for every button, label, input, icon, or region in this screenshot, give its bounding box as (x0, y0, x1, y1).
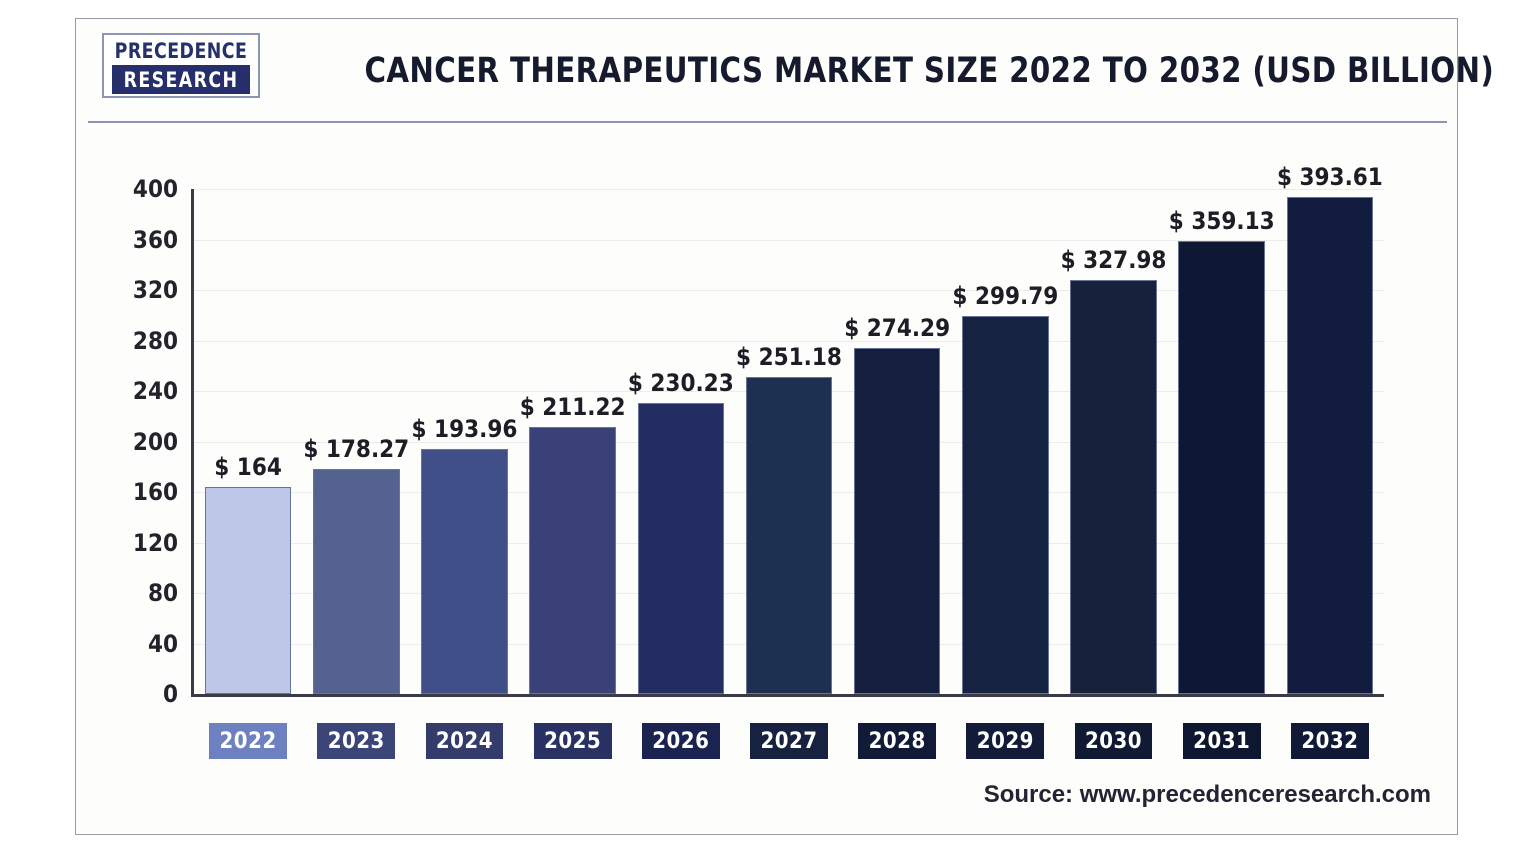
y-axis-tick-label: 80 (148, 579, 178, 607)
bar-2028[interactable]: $ 274.29 (854, 348, 941, 694)
gridline (194, 189, 1384, 190)
bar-value-label: $ 393.61 (1277, 163, 1383, 191)
source-attribution: Source: www.precedenceresearch.com (984, 781, 1431, 809)
y-axis-tick-label: 240 (133, 377, 178, 405)
legend-item-2024[interactable]: 2024 (426, 723, 504, 759)
bar-value-label: $ 299.79 (952, 282, 1058, 310)
bar-2024[interactable]: $ 193.96 (421, 449, 508, 694)
legend-item-2025[interactable]: 2025 (534, 723, 612, 759)
legend-item-2032[interactable]: 2032 (1291, 723, 1369, 759)
bar-2032[interactable]: $ 393.61 (1287, 197, 1374, 694)
chart-card: PRECEDENCE RESEARCH CANCER THERAPEUTICS … (75, 18, 1458, 835)
y-axis-tick-label: 320 (133, 276, 178, 304)
bar-2023[interactable]: $ 178.27 (313, 469, 400, 694)
bar-2026[interactable]: $ 230.23 (638, 403, 725, 694)
y-axis-tick-label: 0 (163, 680, 178, 708)
logo-text-research: RESEARCH (112, 65, 250, 94)
y-axis-tick-label: 400 (133, 175, 178, 203)
card-header: PRECEDENCE RESEARCH CANCER THERAPEUTICS … (76, 19, 1457, 121)
legend-item-2026[interactable]: 2026 (642, 723, 720, 759)
y-axis-tick-label: 280 (133, 327, 178, 355)
plot-wrapper: 04080120160200240280320360400$ 164$ 178.… (76, 123, 1457, 834)
bar-value-label: $ 274.29 (844, 314, 950, 342)
bar-value-label: $ 193.96 (412, 415, 518, 443)
bar-value-label: $ 211.22 (520, 393, 626, 421)
year-legend: 2022202320242025202620272028202920302031… (194, 723, 1384, 763)
y-axis-tick-label: 200 (133, 428, 178, 456)
page-title: CANCER THERAPEUTICS MARKET SIZE 2022 TO … (365, 51, 1388, 91)
x-axis-line (191, 694, 1384, 697)
legend-item-2028[interactable]: 2028 (858, 723, 936, 759)
bar-2022[interactable]: $ 164 (205, 487, 292, 694)
logo-text-precedence: PRECEDENCE (112, 37, 250, 65)
bar-2025[interactable]: $ 211.22 (529, 427, 616, 694)
bar-2029[interactable]: $ 299.79 (962, 316, 1049, 694)
y-axis-tick-label: 160 (133, 478, 178, 506)
bar-value-label: $ 164 (214, 453, 282, 481)
chart-plot-area: 04080120160200240280320360400$ 164$ 178.… (194, 189, 1384, 694)
y-axis-tick-label: 360 (133, 226, 178, 254)
y-axis-tick-label: 40 (148, 630, 178, 658)
legend-item-2031[interactable]: 2031 (1183, 723, 1261, 759)
legend-item-2029[interactable]: 2029 (966, 723, 1044, 759)
bar-value-label: $ 327.98 (1061, 246, 1167, 274)
y-axis-tick-label: 120 (133, 529, 178, 557)
legend-item-2022[interactable]: 2022 (209, 723, 287, 759)
bar-value-label: $ 178.27 (303, 435, 409, 463)
legend-item-2027[interactable]: 2027 (750, 723, 828, 759)
bar-2030[interactable]: $ 327.98 (1070, 280, 1157, 694)
screenshot-root: PRECEDENCE RESEARCH CANCER THERAPEUTICS … (0, 0, 1536, 864)
bar-value-label: $ 359.13 (1169, 207, 1275, 235)
bar-2031[interactable]: $ 359.13 (1178, 241, 1265, 694)
bar-value-label: $ 230.23 (628, 369, 734, 397)
legend-item-2030[interactable]: 2030 (1075, 723, 1153, 759)
bar-value-label: $ 251.18 (736, 343, 842, 371)
precedence-research-logo: PRECEDENCE RESEARCH (102, 33, 260, 98)
bar-2027[interactable]: $ 251.18 (746, 377, 833, 694)
legend-item-2023[interactable]: 2023 (317, 723, 395, 759)
